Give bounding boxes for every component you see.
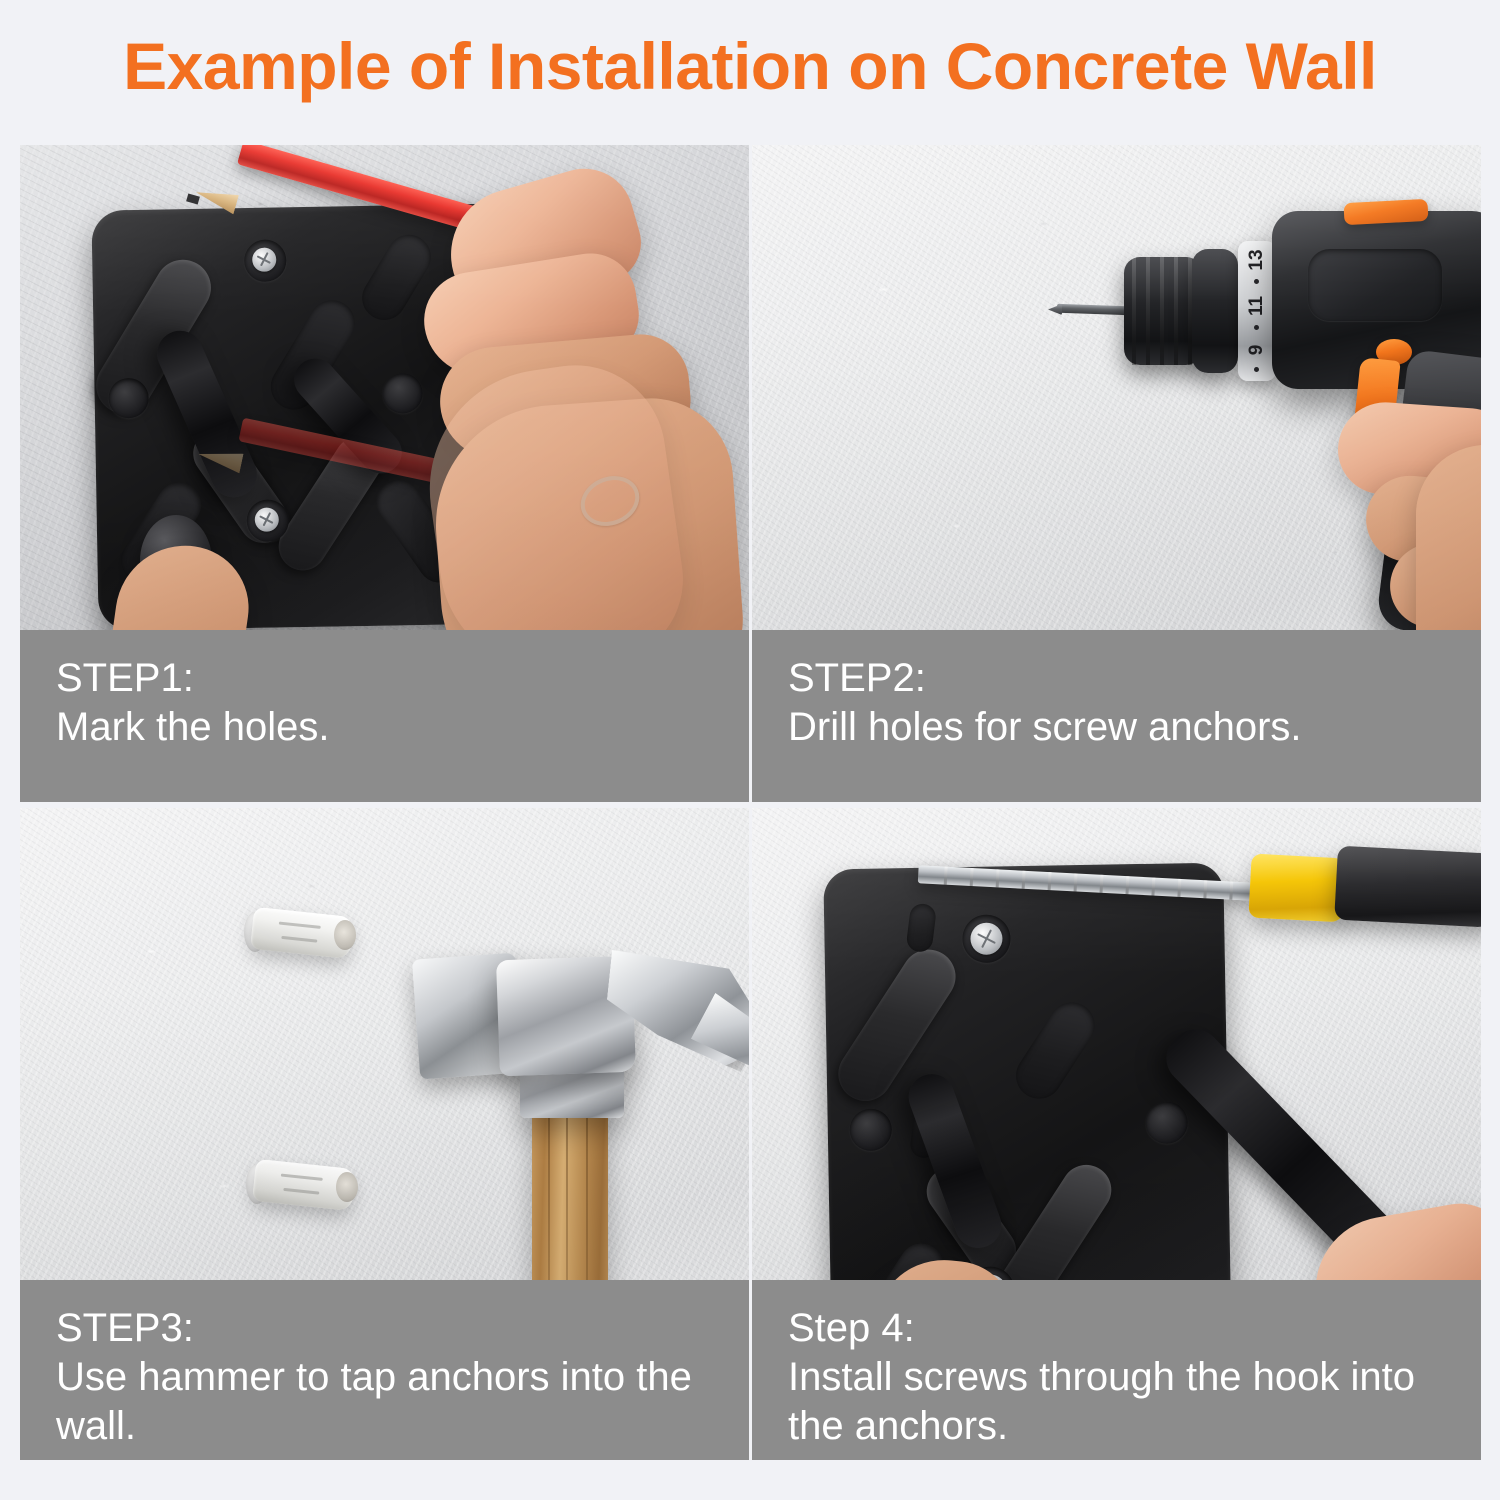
screw-thread [1203, 880, 1207, 898]
hook-mount-left [849, 1108, 892, 1151]
hook-mount-right [1145, 1101, 1188, 1144]
screw-thread [1125, 876, 1129, 894]
clutch-dot [1254, 367, 1259, 372]
screw-thread [970, 868, 974, 886]
step-1-caption: STEP1: Mark the holes. [20, 630, 749, 802]
clutch-number-11: 11 [1246, 293, 1268, 319]
step-3-instruction: Use hammer to tap anchors into the wall. [56, 1353, 713, 1451]
hook-mount-left [108, 378, 149, 419]
clutch-dot [1254, 325, 1259, 330]
step-1-instruction: Mark the holes. [56, 703, 713, 752]
screw-thread [1074, 873, 1078, 891]
anchor-rib [281, 1174, 323, 1181]
anchor-1-bore [334, 920, 356, 950]
step-panel-4: Step 4: Install screws through the hook … [752, 808, 1481, 1460]
anchor-rib [279, 922, 321, 929]
screw-thread [1229, 882, 1233, 900]
step-2-caption: STEP2: Drill holes for screw anchors. [752, 630, 1481, 802]
anchor-rib [283, 1188, 319, 1195]
screw-thread [996, 869, 1000, 887]
screwdriver-handle-grip [1334, 846, 1481, 929]
screw-thread [1100, 875, 1104, 893]
hook-mount-right [382, 373, 423, 414]
screw-thread [1048, 872, 1052, 890]
clutch-dot [1254, 279, 1259, 284]
step-panel-3: STEP3: Use hammer to tap anchors into th… [20, 808, 749, 1460]
step-4-label: Step 4: [788, 1304, 1445, 1353]
chuck-rib [1146, 257, 1150, 365]
step-4-caption: Step 4: Install screws through the hook … [752, 1280, 1481, 1460]
screwdriver-handle-ferrule [1248, 854, 1347, 923]
step-2-label: STEP2: [788, 654, 1445, 703]
step-3-label: STEP3: [56, 1304, 713, 1353]
clutch-number-9: 9 [1246, 337, 1268, 363]
step-2-instruction: Drill holes for screw anchors. [788, 703, 1445, 752]
clutch-ring: 13 11 9 [1238, 241, 1276, 381]
screw-thread [1177, 879, 1181, 897]
drill-top-accent [1343, 199, 1428, 225]
plate-emboss-oval [905, 902, 937, 953]
anchor-rib [281, 936, 317, 943]
installation-guide-page: Example of Installation on Concrete Wall [0, 0, 1500, 1500]
chuck-rib [1132, 257, 1136, 365]
screw-thread [1022, 871, 1026, 889]
page-title: Example of Installation on Concrete Wall [0, 28, 1500, 104]
step-panel-1: STEP1: Mark the holes. [20, 145, 749, 802]
chuck-rib [1160, 257, 1164, 365]
anchor-2-bore [336, 1172, 358, 1202]
drill-chuck [1124, 257, 1202, 365]
step-panel-2: 13 11 9 [752, 145, 1481, 802]
plate-emboss-oval [1007, 994, 1103, 1108]
step-3-caption: STEP3: Use hammer to tap anchors into th… [20, 1280, 749, 1460]
clutch-number-13: 13 [1246, 247, 1268, 273]
step-4-instruction: Install screws through the hook into the… [788, 1353, 1445, 1451]
step-1-label: STEP1: [56, 654, 713, 703]
screw-thread [944, 867, 948, 885]
screw-thread [1151, 877, 1155, 895]
drill-body-panel [1308, 249, 1442, 321]
chuck-rib [1174, 257, 1178, 365]
steps-grid: STEP1: Mark the holes. [20, 145, 1481, 1468]
drill-chuck-collar [1192, 249, 1238, 373]
